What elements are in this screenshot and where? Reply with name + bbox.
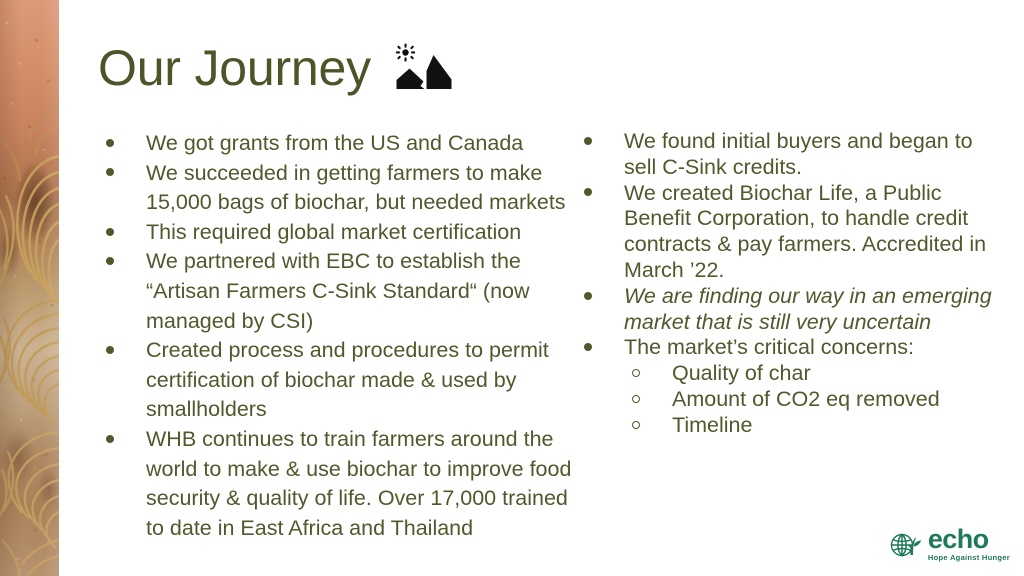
list-item: We created Biochar Life, a Public Benefi… (576, 181, 1006, 284)
bullet-text: We succeeded in getting farmers to make … (146, 159, 588, 218)
list-item: The market’s critical concerns: (576, 335, 1006, 361)
bullet-dot-icon (584, 284, 608, 310)
decorative-soil-terrace-photo (0, 0, 59, 576)
bullet-dot-icon (106, 247, 130, 277)
list-item: We are finding our way in an emerging ma… (576, 284, 1006, 336)
bullet-dot-icon (106, 425, 130, 455)
bullet-dot-icon (106, 159, 130, 189)
bullet-text: We partnered with EBC to establish the “… (146, 247, 588, 336)
bullet-text: This required global market certificatio… (146, 218, 588, 248)
list-item: Created process and procedures to permit… (98, 336, 588, 425)
slide: Our Journey (0, 0, 1024, 576)
photo-vignette (0, 0, 59, 576)
bullet-dot-icon (106, 218, 130, 248)
right-bullet-list: We found initial buyers and began to sel… (576, 129, 1006, 361)
bullet-dot-icon (584, 129, 608, 155)
list-item: We succeeded in getting farmers to make … (98, 159, 588, 218)
list-item: We got grants from the US and Canada (98, 129, 588, 159)
echo-tagline: Hope Against Hunger (928, 553, 1010, 562)
bullet-text: We got grants from the US and Canada (146, 129, 588, 159)
sub-bullet-text: Amount of CO2 eq removed (672, 387, 940, 411)
bullet-ring-icon (632, 387, 640, 413)
echo-globe-sprout-icon (888, 528, 922, 560)
bullet-text: We created Biochar Life, a Public Benefi… (624, 181, 1006, 284)
sub-list-item: Quality of char (624, 361, 1006, 387)
bullet-text: WHB continues to train farmers around th… (146, 425, 588, 543)
echo-logo: echo Hope Against Hunger (888, 526, 1010, 562)
sub-list-item: Timeline (624, 413, 1006, 439)
sub-bullet-text: Quality of char (672, 361, 811, 385)
sub-list-item: Amount of CO2 eq removed (624, 387, 1006, 413)
bullet-text: The market’s critical concerns: (624, 335, 1006, 361)
list-item: This required global market certificatio… (98, 218, 588, 248)
bullet-text-italic: We are finding our way in an emerging ma… (624, 284, 1006, 336)
bullet-dot-icon (106, 336, 130, 366)
bullet-ring-icon (632, 413, 640, 439)
page-title: Our Journey (98, 36, 371, 100)
left-content-column: We got grants from the US and Canada We … (98, 129, 588, 543)
left-bullet-list: We got grants from the US and Canada We … (98, 129, 588, 543)
list-item: We partnered with EBC to establish the “… (98, 247, 588, 336)
bullet-ring-icon (632, 361, 640, 387)
right-content-column: We found initial buyers and began to sel… (576, 129, 1006, 439)
mountains-with-sun-icon (393, 42, 453, 102)
bullet-text: We found initial buyers and began to sel… (624, 129, 1006, 181)
bullet-dot-icon (584, 335, 608, 361)
echo-word: echo (928, 526, 989, 552)
list-item: We found initial buyers and began to sel… (576, 129, 1006, 181)
list-item: WHB continues to train farmers around th… (98, 425, 588, 543)
bullet-dot-icon (584, 181, 608, 207)
bullet-dot-icon (106, 129, 130, 159)
sub-bullet-text: Timeline (672, 413, 752, 437)
bullet-text: Created process and procedures to permit… (146, 336, 588, 425)
title-row: Our Journey (98, 36, 453, 102)
echo-wordmark: echo Hope Against Hunger (928, 526, 1010, 562)
right-sub-bullet-list: Quality of char Amount of CO2 eq removed… (576, 361, 1006, 438)
